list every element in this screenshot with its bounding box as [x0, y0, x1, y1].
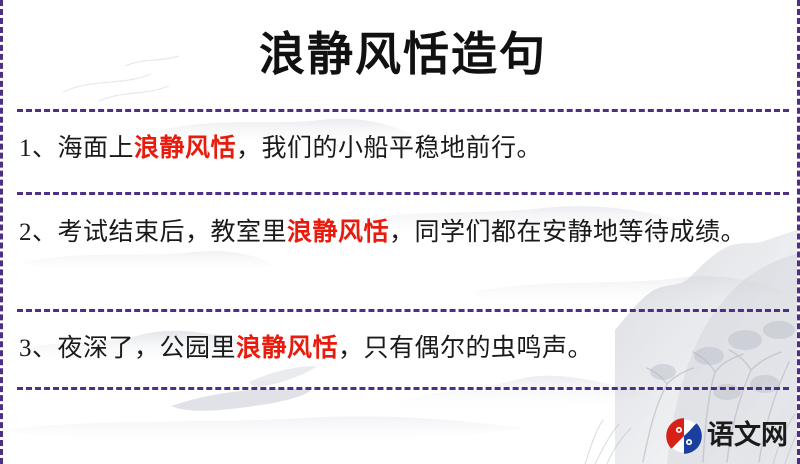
sentence-2-after: ，同学们都在安静地等待成绩。	[389, 219, 746, 246]
sentence-3-after: ，只有偶尔的虫鸣声。	[338, 335, 593, 362]
site-logo[interactable]: 语文网	[666, 418, 788, 454]
sentence-2-idiom: 浪静风恬	[287, 219, 389, 246]
site-logo-text: 语文网	[707, 421, 788, 451]
page-title: 浪静风恬造句	[3, 22, 800, 86]
worksheet-content: 浪静风恬造句 1、海面上浪静风恬，我们的小船平稳地前行。 2、考试结束后，教室里…	[3, 0, 800, 464]
divider-top	[17, 109, 789, 112]
example-sentence-3: 3、夜深了，公园里浪静风恬，只有偶尔的虫鸣声。	[19, 328, 789, 370]
sentence-1-idiom: 浪静风恬	[134, 135, 236, 162]
example-sentence-2: 2、考试结束后，教室里浪静风恬，同学们都在安静地等待成绩。	[19, 212, 789, 254]
sentence-2-number: 2、	[19, 219, 58, 246]
example-sentence-1: 1、海面上浪静风恬，我们的小船平稳地前行。	[19, 128, 789, 170]
sentence-1-before: 海面上	[58, 135, 135, 162]
sentence-2-before: 考试结束后，教室里	[58, 219, 288, 246]
sentence-3-idiom: 浪静风恬	[236, 335, 338, 362]
divider-bottom	[17, 387, 789, 390]
divider-after-sentence-1	[17, 192, 789, 195]
sentence-1-after: ，我们的小船平稳地前行。	[236, 135, 542, 162]
divider-after-sentence-2	[17, 309, 789, 312]
sentence-1-number: 1、	[19, 135, 58, 162]
sentence-3-before: 夜深了，公园里	[58, 335, 237, 362]
yin-yang-circle-icon	[666, 418, 702, 454]
worksheet-page: 浪静风恬造句 1、海面上浪静风恬，我们的小船平稳地前行。 2、考试结束后，教室里…	[0, 0, 800, 464]
sentence-3-number: 3、	[19, 335, 58, 362]
